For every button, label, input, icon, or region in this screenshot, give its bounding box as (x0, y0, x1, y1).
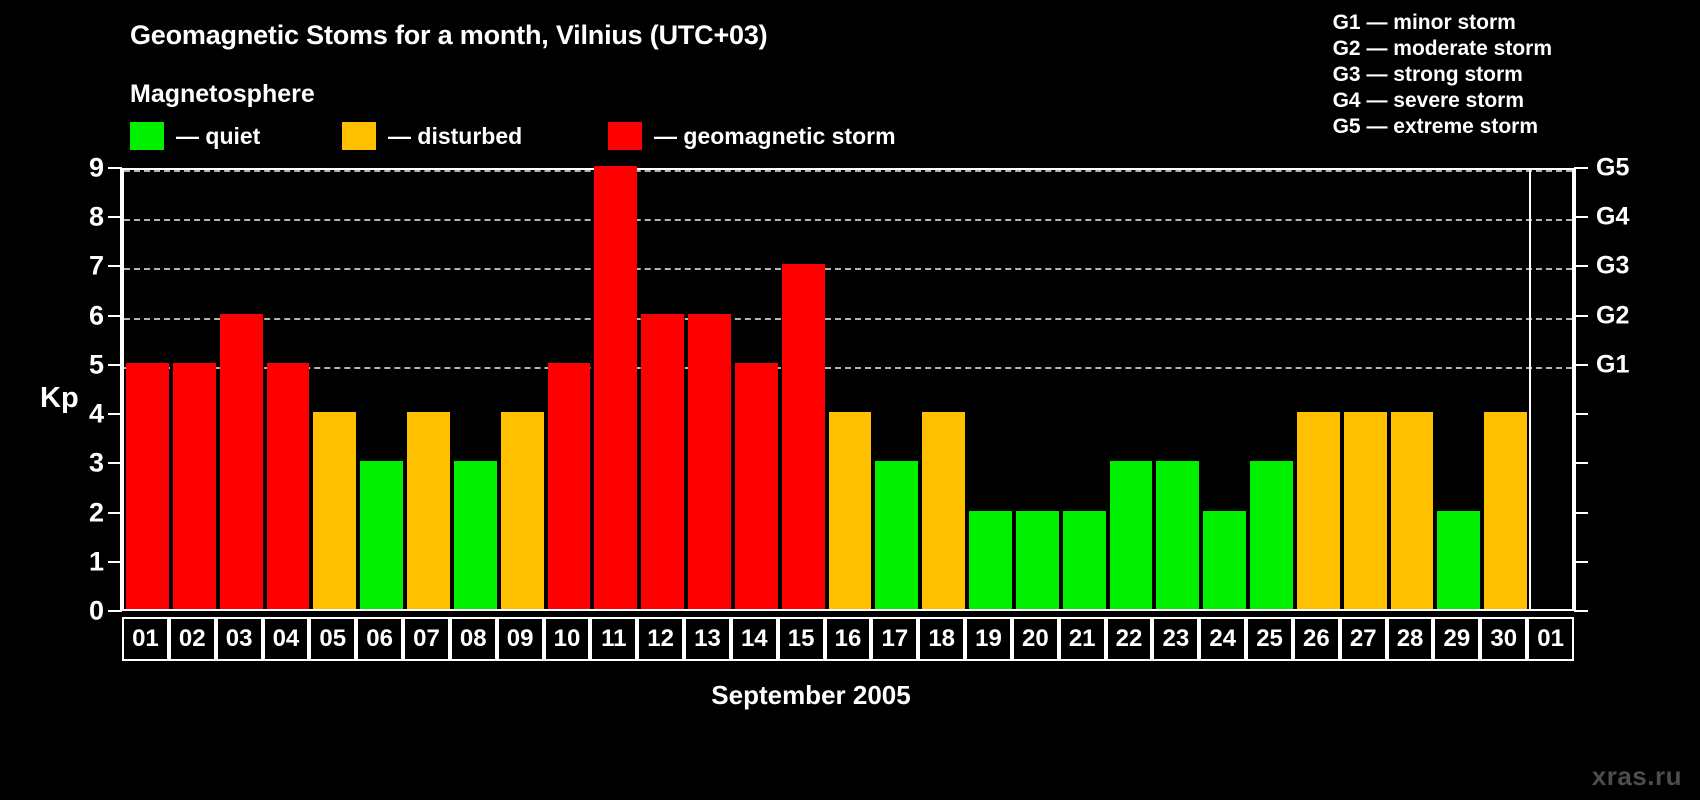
y-tick-mark-9 (108, 167, 122, 169)
y-tick-mark-5 (108, 364, 122, 366)
day-axis: 0102030405060708091011121314151617181920… (122, 617, 1574, 661)
day-label-9[interactable]: 10 (544, 617, 591, 661)
y-tick-label-5: 5 (64, 349, 104, 380)
day-label-6[interactable]: 07 (403, 617, 450, 661)
bar-day-25[interactable] (1250, 461, 1293, 609)
bar-day-07[interactable] (407, 412, 450, 609)
y-tick-mark-1 (108, 561, 122, 563)
day-label-11[interactable]: 12 (637, 617, 684, 661)
bar-day-28[interactable] (1391, 412, 1434, 609)
legend-item-storm: — geomagnetic storm (608, 122, 896, 150)
day-label-13[interactable]: 14 (731, 617, 778, 661)
g-tick-label-G3: G3 (1596, 252, 1629, 281)
g-tick-mark-G1 (1574, 364, 1588, 366)
legend-item-quiet: — quiet (130, 122, 260, 150)
day-label-4[interactable]: 05 (309, 617, 356, 661)
bar-day-20[interactable] (1016, 511, 1059, 609)
magnetosphere-label: Magnetosphere (130, 80, 315, 109)
day-label-12[interactable]: 13 (684, 617, 731, 661)
day-label-21[interactable]: 22 (1106, 617, 1153, 661)
bar-day-06[interactable] (360, 461, 403, 609)
day-label-10[interactable]: 11 (590, 617, 637, 661)
bar-day-26[interactable] (1297, 412, 1340, 609)
y-tick-mark-2 (108, 512, 122, 514)
g-minor-tick-kp-4 (1574, 413, 1588, 415)
y-tick-label-3: 3 (64, 448, 104, 479)
x-axis-title: September 2005 (0, 680, 1700, 711)
bar-day-17[interactable] (875, 461, 918, 609)
g-tick-mark-G3 (1574, 265, 1588, 267)
bar-day-14[interactable] (735, 363, 778, 609)
bar-day-19[interactable] (969, 511, 1012, 609)
bar-day-01[interactable] (126, 363, 169, 609)
bar-day-13[interactable] (688, 314, 731, 609)
bar-day-04[interactable] (267, 363, 310, 609)
bar-day-05[interactable] (313, 412, 356, 609)
g-minor-tick-kp-3 (1574, 462, 1588, 464)
g-tick-mark-G5 (1574, 167, 1588, 169)
g-tick-label-G1: G1 (1596, 350, 1629, 379)
y-tick-label-1: 1 (64, 546, 104, 577)
x-axis-title-text: September 2005 (711, 680, 910, 711)
legend-swatch-disturbed (342, 122, 376, 150)
y-tick-label-2: 2 (64, 497, 104, 528)
g-minor-tick-kp-2 (1574, 512, 1588, 514)
y-tick-label-8: 8 (64, 202, 104, 233)
day-label-0[interactable]: 01 (122, 617, 169, 661)
day-label-28[interactable]: 29 (1433, 617, 1480, 661)
day-label-3[interactable]: 04 (263, 617, 310, 661)
day-label-17[interactable]: 18 (918, 617, 965, 661)
bar-day-09[interactable] (501, 412, 544, 609)
bar-day-30[interactable] (1484, 412, 1527, 609)
day-label-24[interactable]: 25 (1246, 617, 1293, 661)
day-label-27[interactable]: 28 (1387, 617, 1434, 661)
day-label-22[interactable]: 23 (1152, 617, 1199, 661)
gscale-legend: G1 — minor stormG2 — moderate stormG3 — … (1333, 10, 1552, 140)
bar-day-23[interactable] (1156, 461, 1199, 609)
gscale-legend-row-2: G2 — moderate storm (1333, 36, 1552, 62)
day-label-16[interactable]: 17 (871, 617, 918, 661)
day-label-7[interactable]: 08 (450, 617, 497, 661)
g-tick-mark-G2 (1574, 315, 1588, 317)
bar-day-11[interactable] (594, 166, 637, 609)
bar-day-03[interactable] (220, 314, 263, 609)
y-tick-mark-8 (108, 216, 122, 218)
bar-day-21[interactable] (1063, 511, 1106, 609)
gscale-legend-row-4: G4 — severe storm (1333, 88, 1552, 114)
y-tick-mark-7 (108, 265, 122, 267)
y-tick-label-6: 6 (64, 300, 104, 331)
gscale-legend-row-3: G3 — strong storm (1333, 62, 1552, 88)
y-tick-mark-3 (108, 462, 122, 464)
bar-day-12[interactable] (641, 314, 684, 609)
g-tick-mark-G4 (1574, 216, 1588, 218)
legend-label-quiet: — quiet (176, 123, 260, 150)
day-label-30[interactable]: 01 (1527, 617, 1574, 661)
bar-day-18[interactable] (922, 412, 965, 609)
day-label-5[interactable]: 06 (356, 617, 403, 661)
y-tick-mark-0 (108, 610, 122, 612)
watermark: xras.ru (1592, 761, 1682, 792)
page-title: Geomagnetic Stoms for a month, Vilnius (… (130, 20, 767, 51)
day-label-20[interactable]: 21 (1059, 617, 1106, 661)
day-label-23[interactable]: 24 (1199, 617, 1246, 661)
g-minor-tick-kp-0 (1574, 610, 1588, 612)
day-label-1[interactable]: 02 (169, 617, 216, 661)
bar-day-24[interactable] (1203, 511, 1246, 609)
y-tick-label-9: 9 (64, 153, 104, 184)
plot-inner (124, 170, 1572, 609)
g-tick-label-G2: G2 (1596, 301, 1629, 330)
bar-day-16[interactable] (829, 412, 872, 609)
bar-day-27[interactable] (1344, 412, 1387, 609)
day-label-2[interactable]: 03 (216, 617, 263, 661)
y-tick-mark-6 (108, 315, 122, 317)
legend-label-disturbed: — disturbed (388, 123, 522, 150)
day-label-18[interactable]: 19 (965, 617, 1012, 661)
y-tick-label-7: 7 (64, 251, 104, 282)
bar-day-02[interactable] (173, 363, 216, 609)
bar-day-10[interactable] (548, 363, 591, 609)
g-tick-label-G5: G5 (1596, 154, 1629, 183)
y-tick-label-4: 4 (64, 399, 104, 430)
g-axis-line (1574, 168, 1576, 611)
day-label-25[interactable]: 26 (1293, 617, 1340, 661)
legend-label-storm: — geomagnetic storm (654, 123, 896, 150)
bar-day-08[interactable] (454, 461, 497, 609)
legend-item-disturbed: — disturbed (342, 122, 522, 150)
gscale-legend-row-1: G1 — minor storm (1333, 10, 1552, 36)
bar-day-15[interactable] (782, 264, 825, 609)
day-label-14[interactable]: 15 (778, 617, 825, 661)
bar-day-22[interactable] (1110, 461, 1153, 609)
day-label-8[interactable]: 09 (497, 617, 544, 661)
g-minor-tick-kp-1 (1574, 561, 1588, 563)
y-tick-mark-4 (108, 413, 122, 415)
gscale-legend-row-5: G5 — extreme storm (1333, 114, 1552, 140)
g-tick-label-G4: G4 (1596, 203, 1629, 232)
day-label-15[interactable]: 16 (825, 617, 872, 661)
y-tick-label-0: 0 (64, 596, 104, 627)
plot-area (122, 168, 1574, 611)
legend-swatch-quiet (130, 122, 164, 150)
legend-swatch-storm (608, 122, 642, 150)
period-separator (1529, 170, 1531, 609)
day-label-19[interactable]: 20 (1012, 617, 1059, 661)
bars-layer (124, 170, 1572, 609)
bar-day-29[interactable] (1437, 511, 1480, 609)
day-label-26[interactable]: 27 (1340, 617, 1387, 661)
day-label-29[interactable]: 30 (1480, 617, 1527, 661)
